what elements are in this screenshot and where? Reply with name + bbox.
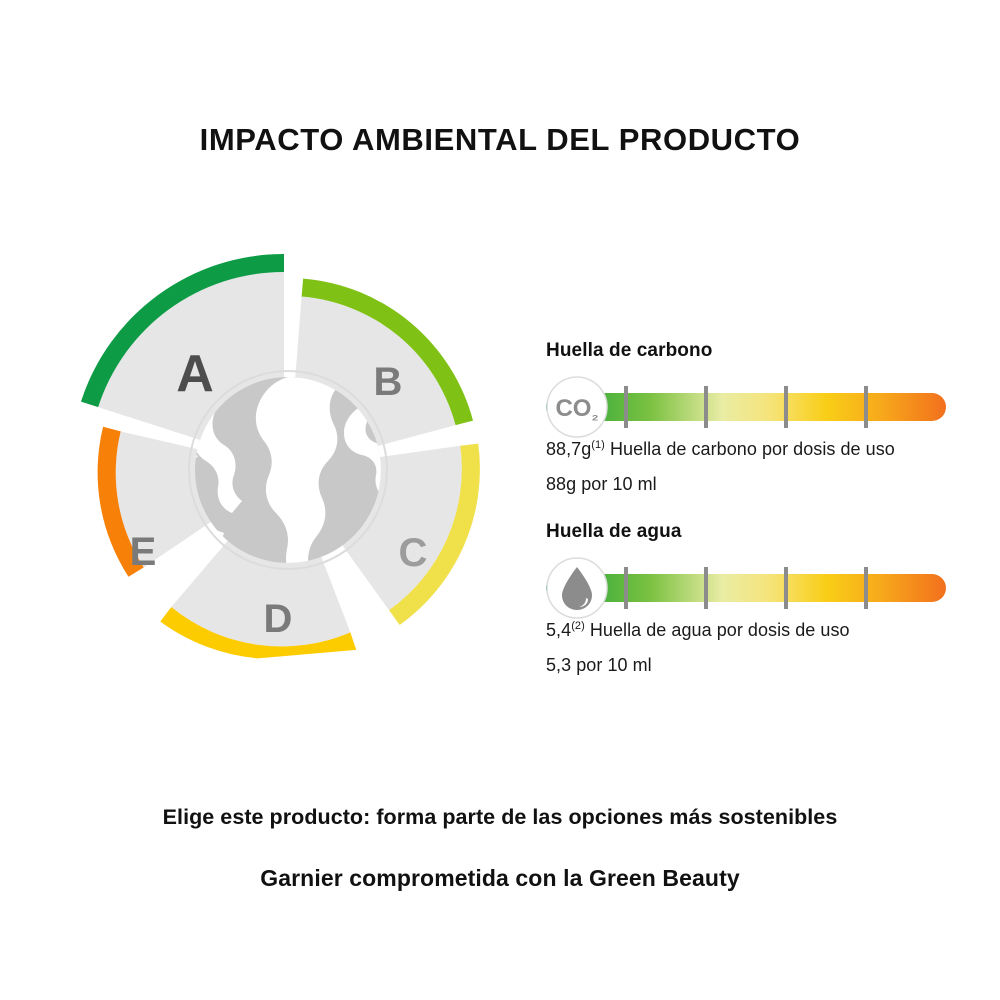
metric-water-title: Huella de agua <box>546 521 966 543</box>
grade-letter-e: E <box>130 530 157 574</box>
metric-water-desc: Huella de agua por dosis de uso <box>585 620 850 640</box>
grade-letter-a: A <box>176 345 214 403</box>
grade-letter-c: C <box>399 531 428 575</box>
co2-icon: CO₂ <box>547 377 607 437</box>
metric-carbon-scale: CO₂ <box>546 376 966 438</box>
metric-water-value: 5,4 <box>546 620 571 640</box>
metric-water-scale-svg <box>546 557 956 619</box>
grade-letter-b: B <box>374 360 403 404</box>
footer-line-1: Elige este producto: forma parte de las … <box>0 805 1000 830</box>
metric-water-scale <box>546 557 966 619</box>
water-drop-icon <box>547 558 607 618</box>
footer-line-2: Garnier comprometida con la Green Beauty <box>0 865 1000 892</box>
metric-water-primary-line: 5,4(2) Huella de agua por dosis de uso <box>546 621 966 639</box>
metric-water-secondary-line: 5,3 por 10 ml <box>546 656 966 674</box>
metric-water-footnote: (2) <box>571 620 585 632</box>
metric-carbon-footnote: (1) <box>591 439 605 451</box>
footprint-metrics: Huella de carbono <box>546 340 966 674</box>
metric-carbon-scale-svg: CO₂ <box>546 376 956 438</box>
metric-carbon: Huella de carbono <box>546 340 966 493</box>
eco-score-panel: IMPACTO AMBIENTAL DEL PRODUCTO <box>0 0 1000 1000</box>
metric-carbon-value: 88,7g <box>546 439 591 459</box>
metric-water: Huella de agua <box>546 521 966 674</box>
metric-carbon-secondary-line: 88g por 10 ml <box>546 475 966 493</box>
page-title: IMPACTO AMBIENTAL DEL PRODUCTO <box>0 122 1000 158</box>
metric-carbon-primary-line: 88,7g(1) Huella de carbono por dosis de … <box>546 440 966 458</box>
grade-letter-d: D <box>264 597 293 641</box>
metric-carbon-desc: Huella de carbono por dosis de uso <box>605 439 895 459</box>
metric-carbon-title: Huella de carbono <box>546 340 966 362</box>
eco-score-wheel-svg: A B C D E <box>60 245 520 685</box>
eco-score-wheel: A B C D E <box>60 245 520 685</box>
